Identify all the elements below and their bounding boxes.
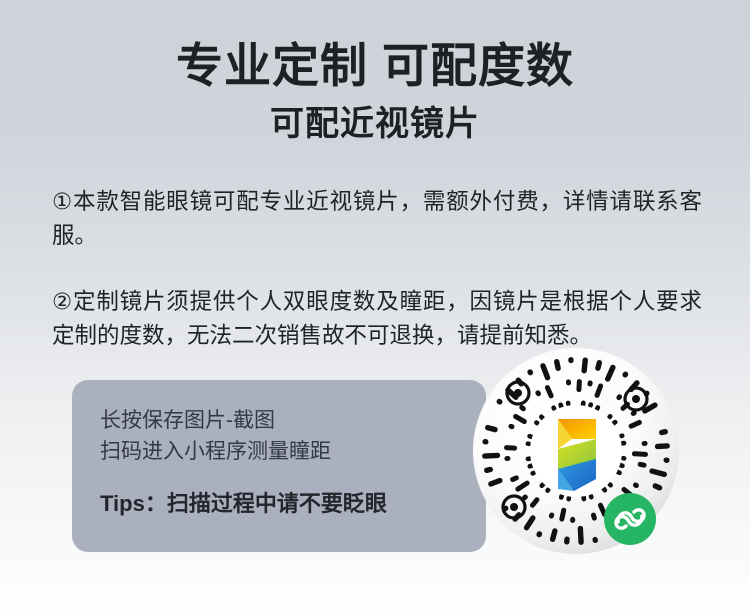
card-tips-text: Tips：扫描过程中请不要眨眼 xyxy=(100,489,486,519)
brand-logo-icon xyxy=(558,419,596,491)
card-line-save-image: 长按保存图片-截图 xyxy=(100,406,486,437)
scan-instruction-card-content: 长按保存图片-截图 扫码进入小程序测量瞳距 Tips：扫描过程中请不要眨眼 xyxy=(72,380,486,552)
note-item-2: ②定制镜片须提供个人双眼度数及瞳距，因镜片是根据个人要求定制的度数，无法二次销售… xyxy=(52,285,702,353)
wechat-miniprogram-badge-icon xyxy=(604,493,656,545)
note-item-1: ①本款智能眼镜可配专业近视镜片，需额外付费，详情请联系客服。 xyxy=(52,185,702,253)
promo-page: 专业定制 可配度数 可配近视镜片 ①本款智能眼镜可配专业近视镜片，需额外付费，详… xyxy=(0,0,750,615)
card-line-scan-miniprogram: 扫码进入小程序测量瞳距 xyxy=(100,437,486,468)
qrcode-container[interactable] xyxy=(470,345,682,557)
notes-block: ①本款智能眼镜可配专业近视镜片，需额外付费，详情请联系客服。 ②定制镜片须提供个… xyxy=(52,185,702,353)
page-title: 专业定制 可配度数 xyxy=(0,38,750,94)
page-subtitle: 可配近视镜片 xyxy=(0,103,750,145)
wechat-miniprogram-qrcode-icon[interactable] xyxy=(470,345,682,557)
